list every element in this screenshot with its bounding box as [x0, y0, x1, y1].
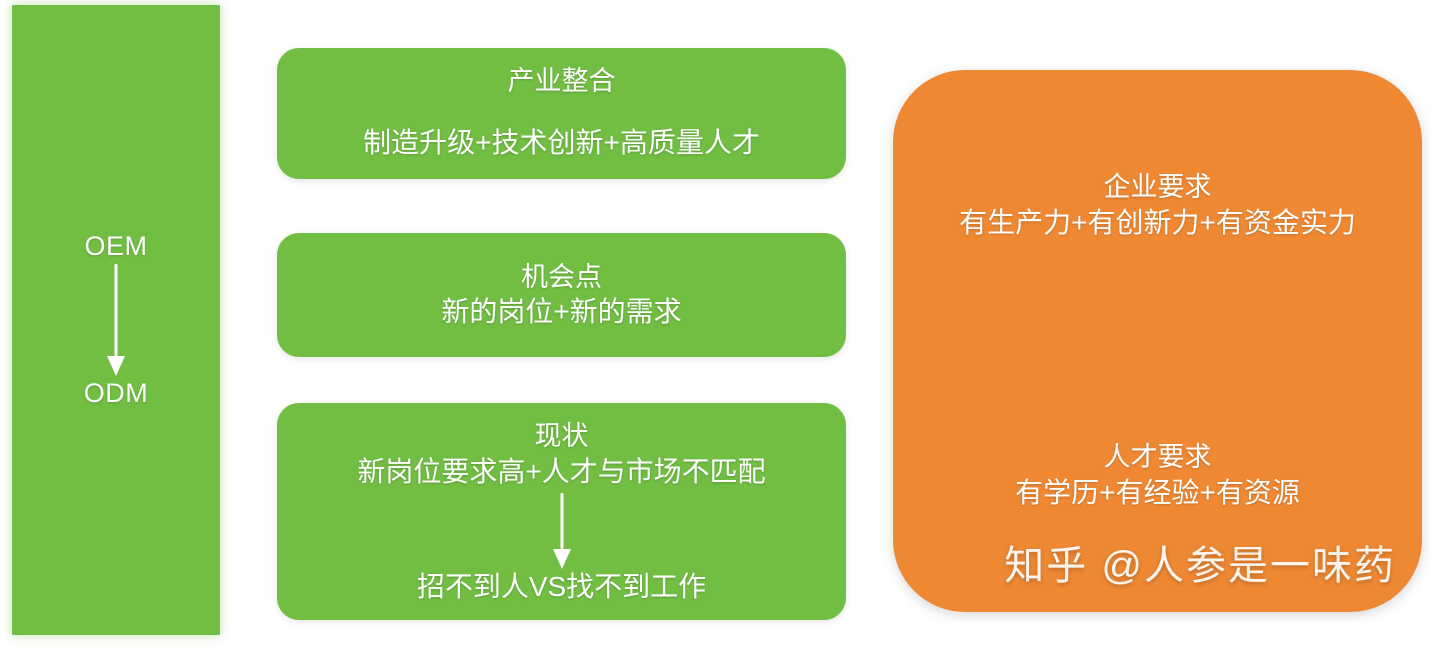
company-requirements-title: 企业要求 [893, 170, 1422, 205]
card-status-result: 招不到人VS找不到工作 [417, 569, 706, 605]
company-requirements-block: 企业要求 有生产力+有创新力+有资金实力 [893, 170, 1422, 241]
arrow-head [107, 356, 125, 376]
arrow-shaft [560, 493, 563, 549]
card-opportunity-point: 机会点 新的岗位+新的需求 [277, 233, 846, 357]
card-current-status: 现状 新岗位要求高+人才与市场不匹配 招不到人VS找不到工作 [277, 403, 846, 620]
talent-requirements-title: 人才要求 [893, 440, 1422, 475]
down-arrow-icon [552, 493, 572, 567]
company-requirements-subtitle: 有生产力+有创新力+有资金实力 [893, 205, 1422, 241]
card-status-subtitle: 新岗位要求高+人才与市场不匹配 [357, 454, 765, 490]
diagram-canvas: OEM ODM 产业整合 制造升级+技术创新+高质量人才 机会点 新的岗位+新的… [0, 0, 1440, 657]
watermark: 知乎 @人参是一味药 [893, 546, 1396, 586]
arrow-head [553, 549, 571, 569]
left-green-bar: OEM ODM [12, 5, 220, 635]
talent-requirements-block: 人才要求 有学历+有经验+有资源 [893, 440, 1422, 511]
card-opportunity-title: 机会点 [521, 260, 602, 295]
odm-label: ODM [84, 380, 149, 407]
card-industry-title: 产业整合 [508, 64, 616, 99]
card-opportunity-subtitle: 新的岗位+新的需求 [441, 294, 681, 330]
card-requirements: 企业要求 有生产力+有创新力+有资金实力 人才要求 有学历+有经验+有资源 知乎… [893, 70, 1422, 612]
card-industry-integration: 产业整合 制造升级+技术创新+高质量人才 [277, 48, 846, 179]
down-arrow-icon [106, 264, 126, 376]
card-status-title: 现状 [535, 419, 589, 454]
talent-requirements-subtitle: 有学历+有经验+有资源 [893, 475, 1422, 511]
oem-label: OEM [84, 233, 147, 260]
arrow-shaft [115, 264, 118, 356]
card-industry-subtitle: 制造升级+技术创新+高质量人才 [363, 125, 760, 161]
